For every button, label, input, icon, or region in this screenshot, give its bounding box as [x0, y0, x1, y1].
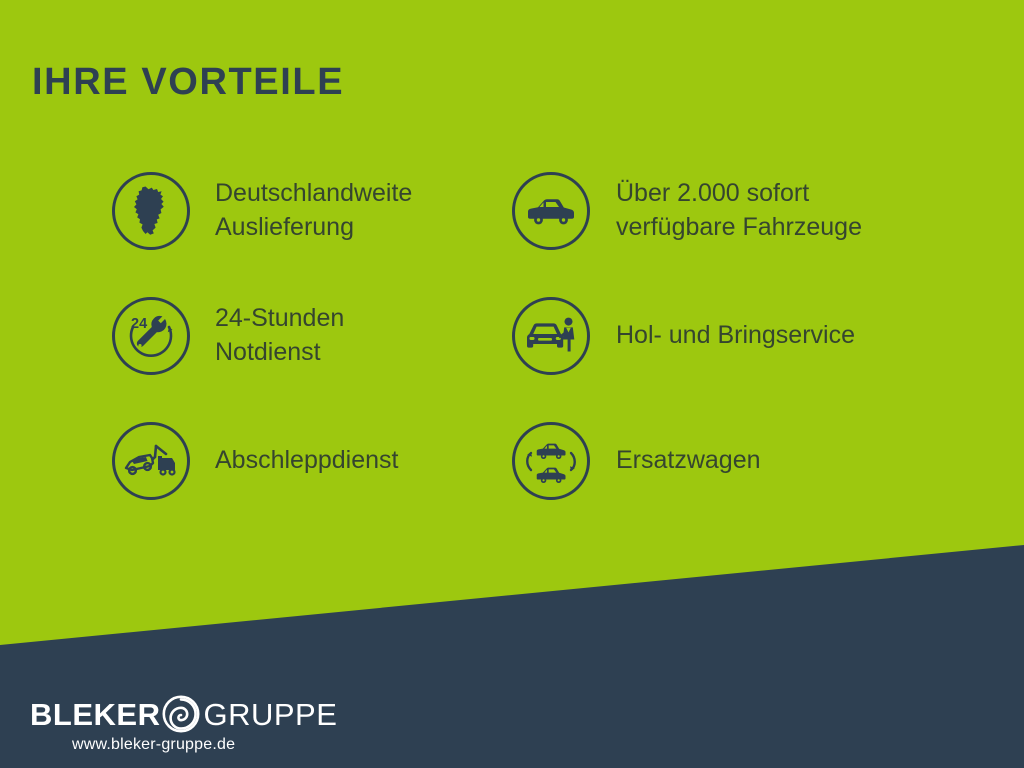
tow-truck-icon [112, 422, 190, 500]
logo-secondary-text: GRUPPE [203, 699, 337, 730]
slide-canvas: IHRE VORTEILE Deutschlandweite Ausliefer… [0, 0, 1024, 768]
page-title: IHRE VORTEILE [32, 62, 344, 104]
car-side-icon [512, 172, 590, 250]
benefit-label: Hol- und Bringservice [616, 319, 855, 352]
benefit-item: Hol- und Bringservice [512, 273, 942, 398]
svg-text:24: 24 [131, 316, 147, 332]
bleker-spiral-icon [161, 694, 201, 734]
benefits-column-right: Über 2.000 sofort verfügbare Fahrzeuge [512, 148, 942, 523]
benefit-item: 24 24-Stunden Notdienst [112, 273, 512, 398]
clock-wrench-24h-icon: 24 [112, 297, 190, 375]
benefit-item: Abschleppdienst [112, 398, 512, 523]
car-person-icon [512, 297, 590, 375]
benefit-label: Ersatzwagen [616, 444, 761, 477]
benefit-label: Über 2.000 sofort verfügbare Fahrzeuge [616, 177, 862, 244]
logo-lockup: BLEKER GRUPPE [30, 694, 360, 734]
benefit-label: 24-Stunden Notdienst [215, 302, 344, 369]
benefit-label: Deutschlandweite Auslieferung [215, 177, 412, 244]
benefits-column-left: Deutschlandweite Auslieferung 24 [112, 148, 512, 523]
benefit-item: Über 2.000 sofort verfügbare Fahrzeuge [512, 148, 942, 273]
logo-primary-text: BLEKER [30, 699, 160, 730]
germany-map-icon [112, 172, 190, 250]
footer-website-url[interactable]: www.bleker-gruppe.de [72, 736, 360, 754]
footer-logo-block: BLEKER GRUPPE www.bleker-gruppe.de [30, 694, 360, 754]
benefit-item: Ersatzwagen [512, 398, 942, 523]
benefit-item: Deutschlandweite Auslieferung [112, 148, 512, 273]
two-cars-cycle-icon [512, 422, 590, 500]
benefit-label: Abschleppdienst [215, 444, 398, 477]
